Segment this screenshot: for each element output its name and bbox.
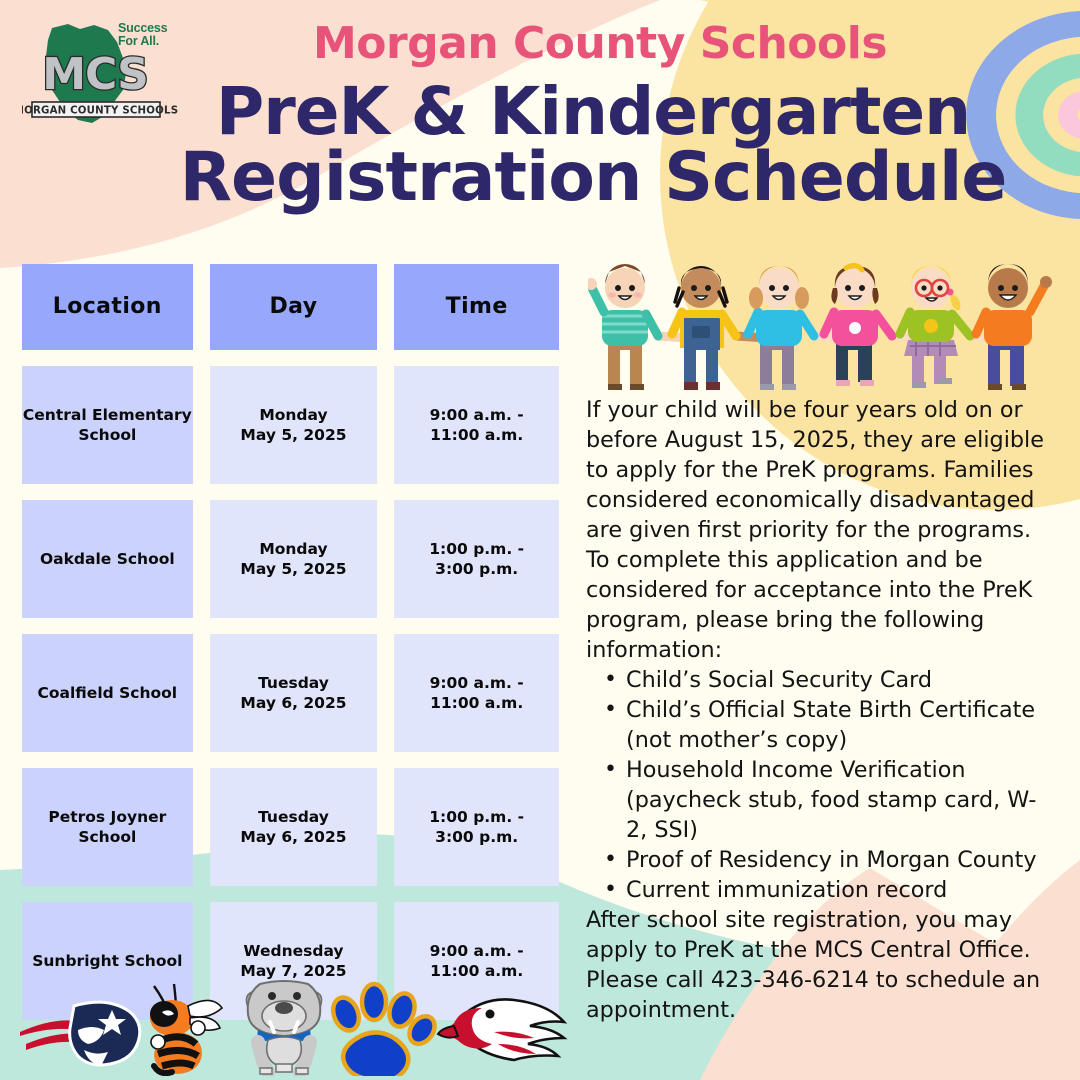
- cell-time: 1:00 p.m. -3:00 p.m.: [394, 500, 559, 618]
- requirements-list: Child’s Social Security Card Child’s Off…: [586, 666, 1056, 906]
- cell-day-weekday: Wednesday: [243, 942, 343, 960]
- child-6-figure: [976, 264, 1052, 390]
- cell-day: MondayMay 5, 2025: [210, 366, 378, 484]
- cell-location: Coalfield School: [22, 634, 193, 752]
- column-header-location: Location: [22, 264, 193, 350]
- cell-day-weekday: Monday: [259, 540, 327, 558]
- list-item: Child’s Official State Birth Certificate…: [586, 696, 1056, 756]
- table-row: Petros Joyner School TuesdayMay 6, 2025 …: [22, 768, 559, 886]
- child-2-figure: [672, 266, 736, 390]
- table-row: Coalfield School TuesdayMay 6, 2025 9:00…: [22, 634, 559, 752]
- closing-paragraph: After school site registration, you may …: [586, 906, 1056, 1026]
- cell-time: 1:00 p.m. -3:00 p.m.: [394, 768, 559, 886]
- information-panel: If your child will be four years old on …: [586, 396, 1056, 1026]
- table-header-row: Location Day Time: [22, 264, 559, 350]
- cell-day-date: May 6, 2025: [240, 694, 346, 712]
- table-row: Oakdale School MondayMay 5, 2025 1:00 p.…: [22, 500, 559, 618]
- list-item: Child’s Social Security Card: [586, 666, 1056, 696]
- column-header-day: Day: [210, 264, 378, 350]
- cell-time-start: 9:00 a.m. -: [430, 674, 524, 692]
- patriot-mascot-icon: [20, 1002, 140, 1065]
- page-title: PreK & Kindergarten Registration Schedul…: [120, 80, 1066, 211]
- cell-day-weekday: Tuesday: [258, 808, 329, 826]
- cell-day-weekday: Monday: [259, 406, 327, 424]
- cell-day: MondayMay 5, 2025: [210, 500, 378, 618]
- list-item: Proof of Residency in Morgan County: [586, 846, 1056, 876]
- page-title-line-1: PreK & Kindergarten: [120, 80, 1066, 145]
- cell-day: TuesdayMay 6, 2025: [210, 634, 378, 752]
- flyer-canvas: MCS MORGAN COUNTY SCHOOLS Success For Al…: [0, 0, 1080, 1080]
- cell-day: TuesdayMay 6, 2025: [210, 768, 378, 886]
- child-5-figure: [900, 266, 970, 388]
- list-item: Current immunization record: [586, 876, 1056, 906]
- list-item: Household Income Verification (paycheck …: [586, 756, 1056, 846]
- cell-time-end: 11:00 a.m.: [430, 426, 523, 444]
- eagle-mascot-icon: [438, 999, 564, 1060]
- cell-time: 9:00 a.m. -11:00 a.m.: [394, 634, 559, 752]
- child-3-figure: [748, 266, 814, 390]
- hornet-mascot-icon: [150, 984, 222, 1074]
- bulldog-mascot-icon: [246, 981, 321, 1074]
- cell-time-end: 3:00 p.m.: [435, 560, 518, 578]
- cell-time-start: 1:00 p.m. -: [429, 540, 524, 558]
- cell-location: Oakdale School: [22, 500, 193, 618]
- tiger-paw-mascot-icon: [329, 984, 440, 1076]
- column-header-time: Time: [394, 264, 559, 350]
- cell-location: Petros Joyner School: [22, 768, 193, 886]
- page-title-line-2: Registration Schedule: [120, 145, 1066, 212]
- cell-day-date: May 6, 2025: [240, 828, 346, 846]
- cell-time: 9:00 a.m. -11:00 a.m.: [394, 366, 559, 484]
- cell-time-end: 3:00 p.m.: [435, 828, 518, 846]
- child-4-figure: [824, 265, 892, 386]
- cell-day-date: May 5, 2025: [240, 426, 346, 444]
- cell-time-start: 1:00 p.m. -: [429, 808, 524, 826]
- cell-day-date: May 5, 2025: [240, 560, 346, 578]
- organization-subtitle: Morgan County Schools: [0, 22, 1080, 66]
- child-1-figure: [588, 264, 658, 390]
- cell-location: Central Elementary School: [22, 366, 193, 484]
- mascot-logos-row: [12, 978, 572, 1076]
- cell-time-start: 9:00 a.m. -: [430, 406, 524, 424]
- table-row: Central Elementary School MondayMay 5, 2…: [22, 366, 559, 484]
- registration-schedule-table: Location Day Time Central Elementary Sch…: [22, 264, 559, 1020]
- cell-time-start: 9:00 a.m. -: [430, 942, 524, 960]
- children-illustration: [588, 258, 1056, 398]
- intro-paragraph: If your child will be four years old on …: [586, 396, 1056, 666]
- cell-time-end: 11:00 a.m.: [430, 694, 523, 712]
- cell-day-weekday: Tuesday: [258, 674, 329, 692]
